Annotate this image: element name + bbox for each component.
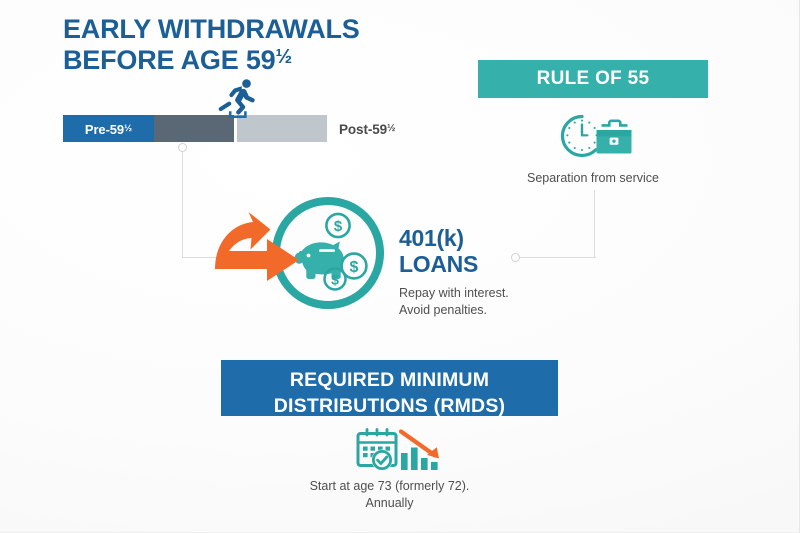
clock-icon <box>562 117 597 156</box>
dollar-coin-icon-3: $ <box>325 269 346 290</box>
timeline-pre-label: Pre-59½ <box>63 115 154 142</box>
connector-endpoint-timeline <box>178 143 187 152</box>
svg-text:$: $ <box>334 218 343 235</box>
timeline-post-label-text: Post-59 <box>339 122 387 137</box>
rmd-caption-line-1: Start at age 73 (formerly 72). <box>221 478 558 495</box>
timeline-segment-post <box>237 115 327 142</box>
rule-of-55-banner: RULE OF 55 <box>478 60 708 98</box>
headline-fraction: ½ <box>275 46 292 68</box>
svg-text:$: $ <box>331 272 339 288</box>
age-timeline-bar: Pre-59½ <box>63 115 327 142</box>
rmd-banner-line-2: DISTRIBUTIONS (RMDs) <box>221 393 558 419</box>
clock-briefcase-icon-group <box>556 112 632 160</box>
timeline-segment-middle <box>154 115 234 142</box>
loans-title-line-2: LOANS <box>399 251 539 277</box>
headline-line-1: EARLY WITHDRAWALS <box>63 14 360 44</box>
svg-text:$: $ <box>350 259 359 276</box>
loans-subtitle-line-1: Repay with interest. <box>399 285 579 302</box>
arrow-right-icon <box>209 207 307 292</box>
timeline-pre-label-fraction: ½ <box>124 123 132 134</box>
bar-chart-icon <box>401 448 438 471</box>
rule-of-55-caption: Separation from service <box>478 170 708 187</box>
timeline-post-label-fraction: ½ <box>387 123 395 134</box>
timeline-post-label: Post-59½ <box>339 115 395 142</box>
briefcase-icon <box>597 121 632 154</box>
loans-subtitle: Repay with interest. Avoid penalties. <box>399 285 579 320</box>
rmd-caption: Start at age 73 (formerly 72). Annually <box>221 478 558 513</box>
loans-title-line-1: 401(k) <box>399 225 464 251</box>
loans-subtitle-line-2: Avoid penalties. <box>399 302 579 319</box>
loans-title: 401(k) LOANS <box>399 225 539 277</box>
connector-line-right-vertical <box>594 190 595 258</box>
connector-line-left-vertical <box>182 148 183 258</box>
headline-line-2-text: BEFORE AGE 59 <box>63 45 275 75</box>
rmd-caption-line-2: Annually <box>221 495 558 512</box>
infographic-canvas: EARLY WITHDRAWALS BEFORE AGE 59½ Pre-59½… <box>0 0 800 533</box>
rmd-icon-group <box>353 425 447 473</box>
running-person-icon <box>216 78 260 118</box>
dollar-coin-icon: $ <box>326 214 349 237</box>
timeline-pre-label-text: Pre-59 <box>85 122 124 137</box>
headline-line-2: BEFORE AGE 59½ <box>63 45 483 76</box>
calendar-check-icon <box>358 430 396 471</box>
page-title: EARLY WITHDRAWALS BEFORE AGE 59½ <box>63 14 483 77</box>
rmd-banner-line-1: REQUIRED MINIMUM <box>290 369 489 391</box>
rmd-banner: REQUIRED MINIMUM DISTRIBUTIONS (RMDs) <box>221 360 558 416</box>
